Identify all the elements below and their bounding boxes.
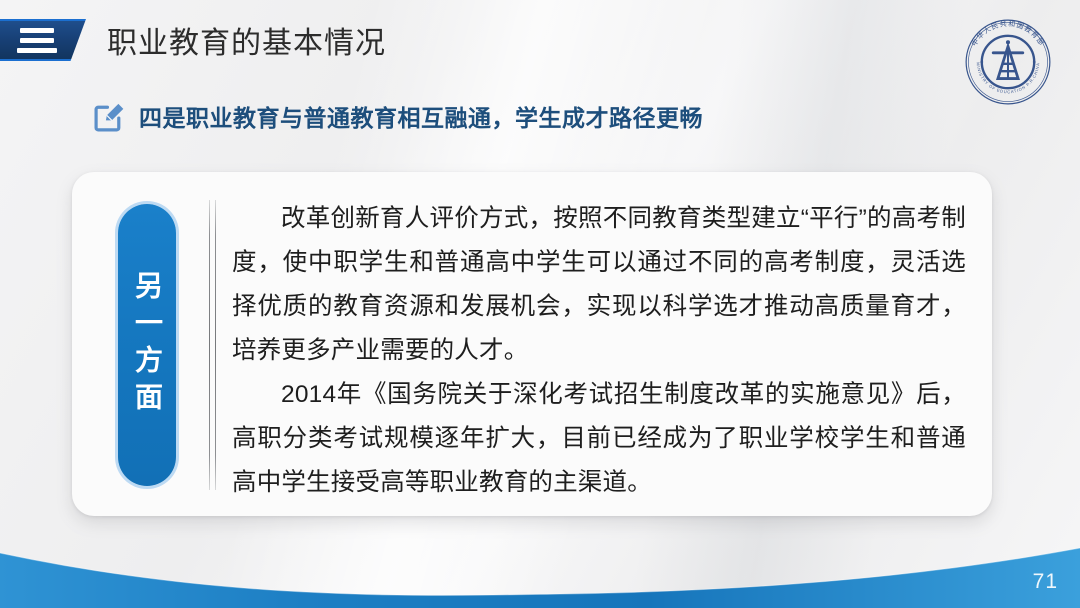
content-card: 另一方面 改革创新育人评价方式，按照不同教育类型建立“平行”的高考制度，使中职学… bbox=[72, 172, 992, 516]
slide-header: 职业教育的基本情况 bbox=[0, 18, 386, 62]
card-body-text: 改革创新育人评价方式，按照不同教育类型建立“平行”的高考制度，使中职学生和普通高… bbox=[232, 197, 966, 505]
hamburger-three-bars-icon-line-2 bbox=[20, 38, 54, 43]
page-title: 职业教育的基本情况 bbox=[107, 18, 386, 62]
footer-wave-decoration bbox=[0, 546, 1080, 608]
section-subtitle: 四是职业教育与普通教育相互融通，学生成才路径更畅 bbox=[93, 99, 703, 133]
side-tab-label: 另一方面 bbox=[133, 271, 161, 419]
edit-pencil-square-icon bbox=[93, 100, 126, 133]
slide-canvas: 职业教育的基本情况 四是职业教育与普通教育相互融通，学生成才路径更畅 中华人民共… bbox=[0, 0, 1080, 608]
vertical-divider-lines bbox=[209, 200, 218, 490]
ministry-of-education-china-emblem: 中华人民共和国教育部 MINISTRY OF EDUCATION P.R.CHI… bbox=[962, 16, 1054, 108]
hamburger-three-bars-icon-line-1 bbox=[20, 28, 54, 33]
chapter-number-badge bbox=[0, 19, 86, 61]
side-tab-another-aspect: 另一方面 bbox=[118, 204, 176, 486]
body-paragraph-1: 改革创新育人评价方式，按照不同教育类型建立“平行”的高考制度，使中职学生和普通高… bbox=[232, 197, 966, 373]
page-number: 71 bbox=[1033, 570, 1058, 594]
hamburger-three-bars-icon-line-3 bbox=[17, 48, 57, 53]
section-subtitle-text: 四是职业教育与普通教育相互融通，学生成才路径更畅 bbox=[139, 99, 703, 133]
body-paragraph-2: 2014年《国务院关于深化考试招生制度改革的实施意见》后，高职分类考试规模逐年扩… bbox=[232, 373, 966, 505]
divider-line-2 bbox=[215, 200, 216, 490]
divider-line-1 bbox=[209, 200, 210, 490]
